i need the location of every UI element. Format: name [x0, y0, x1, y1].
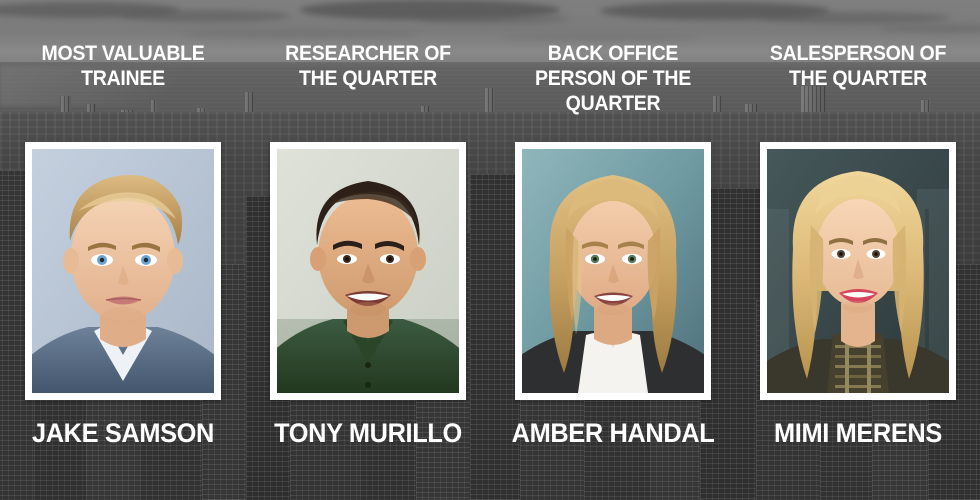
- portrait-photo: [32, 149, 214, 393]
- photo-frame: [25, 142, 221, 400]
- photo-frame: [515, 142, 711, 400]
- person-name: MIMI MERENS: [749, 418, 965, 449]
- portrait-photo: [522, 149, 704, 393]
- award-title: BACK OFFICE PERSON OF THE QUARTER: [510, 41, 715, 116]
- awards-grid: MOST VALUABLE TRAINEE: [0, 0, 980, 500]
- award-column-2: RESEARCHER OF THE QUARTER: [245, 0, 490, 500]
- award-title: RESEARCHER OF THE QUARTER: [265, 41, 470, 91]
- portrait-mimi-merens: [767, 149, 949, 393]
- portrait-photo: [767, 149, 949, 393]
- award-column-3: BACK OFFICE PERSON OF THE QUARTER: [490, 0, 735, 500]
- person-name: AMBER HANDAL: [504, 418, 720, 449]
- award-title: SALESPERSON OF THE QUARTER: [755, 41, 960, 91]
- award-column-1: MOST VALUABLE TRAINEE: [0, 0, 245, 500]
- portrait-photo: [277, 149, 459, 393]
- person-name: JAKE SAMSON: [14, 418, 230, 449]
- award-title: MOST VALUABLE TRAINEE: [20, 41, 225, 91]
- photo-frame: [760, 142, 956, 400]
- award-banner: MOST VALUABLE TRAINEE: [0, 0, 980, 500]
- award-column-4: SALESPERSON OF THE QUARTER: [735, 0, 980, 500]
- portrait-tony-murillo: [277, 149, 459, 393]
- photo-frame: [270, 142, 466, 400]
- person-name: TONY MURILLO: [259, 418, 475, 449]
- portrait-amber-handal: [522, 149, 704, 393]
- portrait-jake-samson: [32, 149, 214, 393]
